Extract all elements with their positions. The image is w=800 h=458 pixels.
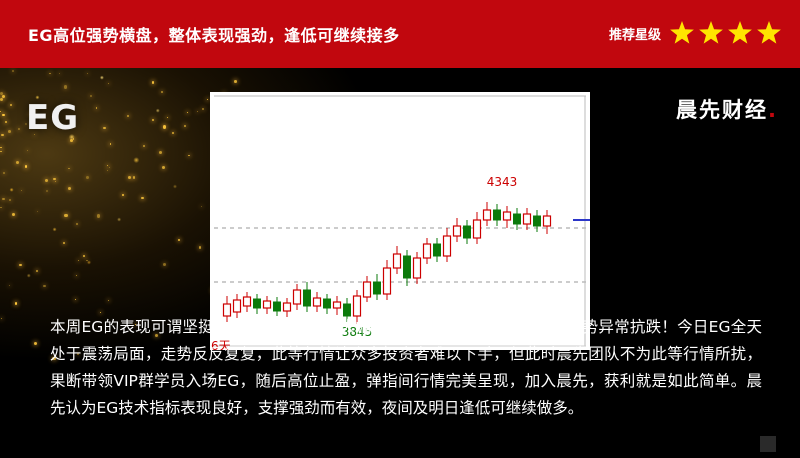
candle-body-down — [404, 256, 411, 278]
candle-body-up — [484, 210, 491, 220]
candle-body-up — [264, 301, 271, 308]
rating-group: 推荐星级 — [609, 20, 782, 46]
candle-body-down — [274, 302, 281, 311]
brand-name: 晨先财经. — [676, 94, 778, 124]
candle-body-up — [334, 302, 341, 308]
main-stage: EG 晨先财经. 4343384526天 本周EG的表现可谓坚挺，在众多品种纷纷… — [0, 68, 800, 458]
candle-body-up — [524, 214, 531, 224]
star-icon — [756, 20, 782, 46]
candle-body-down — [434, 244, 441, 256]
star-icon — [669, 20, 695, 46]
brand-text: 晨先财经 — [676, 98, 768, 122]
corner-marker — [760, 436, 776, 452]
candle-body-up — [284, 303, 291, 311]
candle-body-down — [514, 214, 521, 224]
candle-body-up — [444, 236, 451, 256]
star-rating — [669, 20, 782, 46]
brand-dot: . — [768, 98, 778, 122]
candle-body-up — [504, 212, 511, 220]
candle-body-down — [324, 299, 331, 308]
candle-body-down — [304, 290, 311, 306]
rating-label: 推荐星级 — [609, 24, 661, 43]
candle-body-down — [494, 210, 501, 220]
star-icon — [698, 20, 724, 46]
candle-body-down — [254, 299, 261, 308]
candle-body-up — [454, 226, 461, 236]
candle-body-up — [244, 297, 251, 306]
candlestick-chart-panel[interactable]: 4343384526天 — [210, 92, 590, 350]
candle-body-up — [314, 298, 321, 306]
candle-body-up — [424, 244, 431, 258]
article-paragraph: 本周EG的表现可谓坚挺，在众多品种纷纷大幅下跌之时，EG不随波逐流，走势异常抗跌… — [50, 314, 762, 422]
article-body: 本周EG的表现可谓坚挺，在众多品种纷纷大幅下跌之时，EG不随波逐流，走势异常抗跌… — [50, 314, 762, 422]
candle-body-up — [354, 296, 361, 316]
candlestick-chart: 4343384526天 — [210, 92, 590, 350]
header-banner: EG高位强势横盘，整体表现强劲，逢低可继续接多 推荐星级 — [0, 0, 800, 68]
candle-body-down — [374, 282, 381, 294]
star-icon — [727, 20, 753, 46]
candle-body-down — [464, 226, 471, 238]
candle-body-down — [534, 216, 541, 226]
candle-body-up — [384, 268, 391, 294]
candle-body-up — [414, 258, 421, 278]
candle-body-up — [234, 300, 241, 312]
candle-body-up — [474, 220, 481, 238]
eg-watermark: EG — [26, 98, 79, 138]
high-label: 4343 — [487, 175, 518, 189]
candle-body-up — [294, 290, 301, 304]
candle-body-up — [544, 216, 551, 226]
banner-title: EG高位强势横盘，整体表现强劲，逢低可继续接多 — [28, 22, 400, 46]
candle-body-up — [394, 254, 401, 268]
candle-body-up — [364, 282, 371, 297]
